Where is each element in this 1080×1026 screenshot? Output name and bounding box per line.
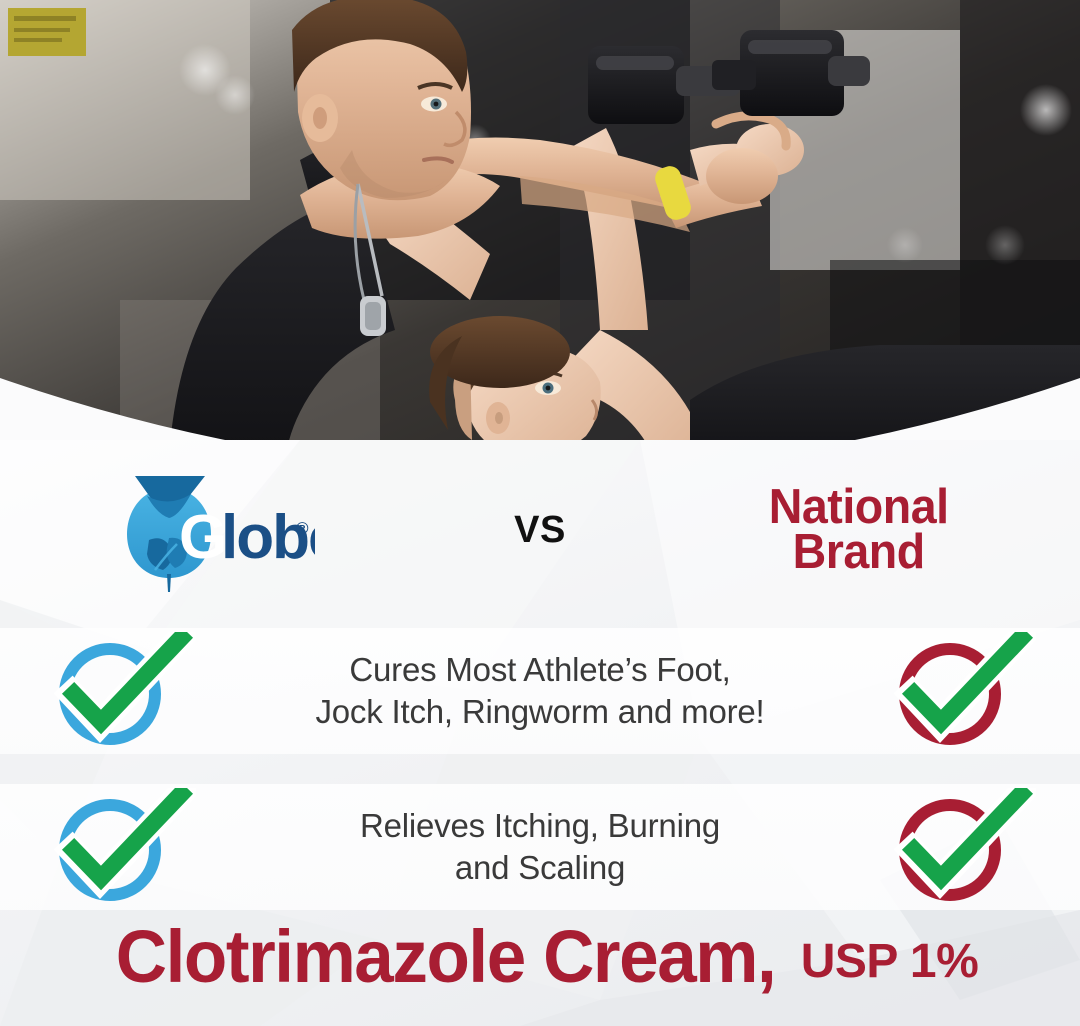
national-brand-line-2: Brand bbox=[769, 530, 949, 575]
row-separator bbox=[0, 754, 1080, 784]
national-brand-cell: National Brand bbox=[660, 485, 1080, 575]
check-circle-red-icon bbox=[884, 788, 1036, 906]
product-title-main: Clotrimazole Cream, bbox=[115, 914, 775, 999]
feature-text-cell: Relieves Itching, Burning and Scaling bbox=[230, 805, 850, 889]
feature-line-2: Jock Itch, Ringworm and more! bbox=[315, 691, 764, 733]
feature-line-1: Relieves Itching, Burning bbox=[360, 805, 720, 847]
feature-right-check-cell bbox=[850, 632, 1080, 750]
national-brand-label: National Brand bbox=[769, 485, 949, 575]
product-title-strength: USP 1% bbox=[801, 934, 979, 989]
check-circle-blue-icon bbox=[44, 632, 196, 750]
vs-separator-cell: VS bbox=[420, 509, 660, 552]
feature-description: Relieves Itching, Burning and Scaling bbox=[360, 805, 720, 889]
feature-description: Cures Most Athlete’s Foot, Jock Itch, Ri… bbox=[315, 649, 764, 733]
product-title: Clotrimazole Cream, USP 1% bbox=[0, 908, 1080, 1004]
check-circle-blue-icon bbox=[44, 788, 196, 906]
feature-left-check-cell bbox=[0, 632, 230, 750]
hero-photo bbox=[0, 0, 1080, 470]
feature-text-cell: Cures Most Athlete’s Foot, Jock Itch, Ri… bbox=[230, 649, 850, 733]
feature-line-2: and Scaling bbox=[360, 847, 720, 889]
feature-right-check-cell bbox=[850, 788, 1080, 906]
feature-row: Relieves Itching, Burning and Scaling bbox=[0, 784, 1080, 910]
feature-row: Cures Most Athlete’s Foot, Jock Itch, Ri… bbox=[0, 628, 1080, 754]
globe-droplet-leaf-logo: G lobe ® bbox=[125, 466, 315, 594]
feature-line-1: Cures Most Athlete’s Foot, bbox=[315, 649, 764, 691]
vs-label: VS bbox=[514, 509, 566, 552]
svg-text:G: G bbox=[179, 503, 225, 572]
brand-comparison-header: G lobe ® VS National Brand bbox=[0, 455, 1080, 605]
national-brand-line-1: National bbox=[769, 485, 949, 530]
check-circle-red-icon bbox=[884, 632, 1036, 750]
advertisement-banner: G lobe ® VS National Brand bbox=[0, 0, 1080, 1026]
feature-comparison-rows: Cures Most Athlete’s Foot, Jock Itch, Ri… bbox=[0, 628, 1080, 908]
svg-text:®: ® bbox=[296, 519, 309, 538]
globe-brand-cell: G lobe ® bbox=[0, 466, 420, 594]
feature-left-check-cell bbox=[0, 788, 230, 906]
